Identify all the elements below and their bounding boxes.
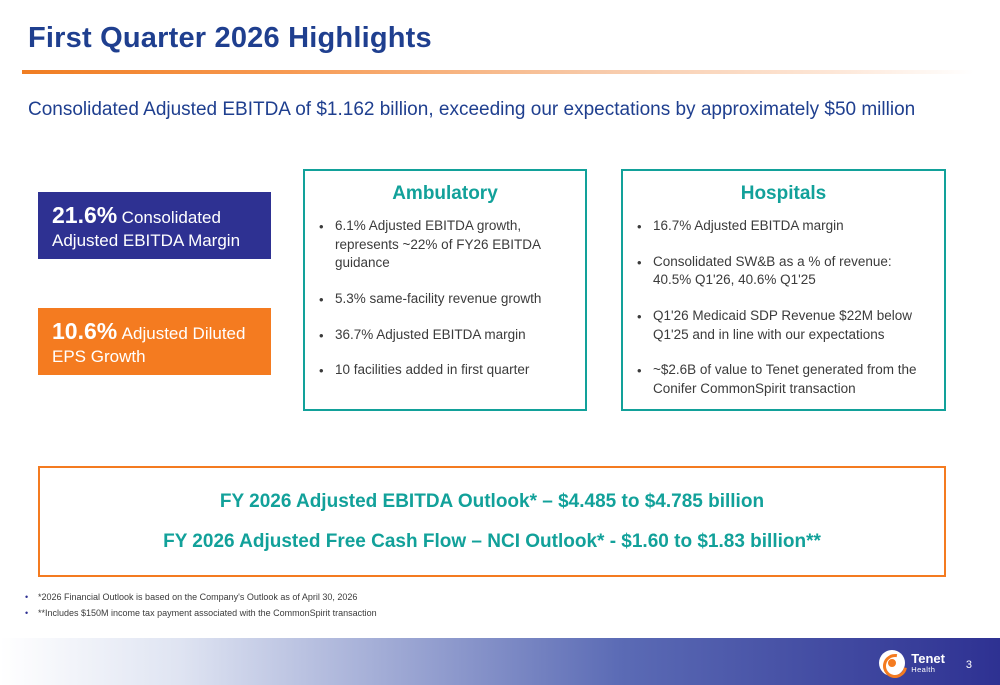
- panel-hospitals: Hospitals •16.7% Adjusted EBITDA margin …: [621, 169, 946, 411]
- list-item-text: Q1'26 Medicaid SDP Revenue $22M below Q1…: [653, 308, 912, 342]
- logo-text: Tenet Health: [911, 652, 945, 674]
- outlook-fcf-line: FY 2026 Adjusted Free Cash Flow – NCI Ou…: [163, 531, 821, 553]
- list-item-text: 16.7% Adjusted EBITDA margin: [653, 218, 844, 233]
- kpi-value: 10.6%: [52, 318, 117, 344]
- logo-name: Tenet: [911, 652, 945, 666]
- bullet-dot-icon: •: [637, 218, 642, 236]
- outlook-ebitda-line: FY 2026 Adjusted EBITDA Outlook* – $4.48…: [220, 491, 764, 513]
- list-item: •Consolidated SW&B as a % of revenue: 40…: [653, 253, 930, 290]
- bullet-dot-icon: •: [319, 218, 324, 236]
- list-item: •~$2.6B of value to Tenet generated from…: [653, 361, 930, 398]
- list-item: •5.3% same-facility revenue growth: [335, 290, 571, 309]
- logo-tagline: Health: [911, 666, 945, 674]
- slide-root: First Quarter 2026 Highlights Consolidat…: [0, 0, 1000, 685]
- subheadline: Consolidated Adjusted EBITDA of $1.162 b…: [28, 99, 915, 121]
- panel-title: Ambulatory: [305, 183, 585, 205]
- page-number: 3: [966, 659, 972, 671]
- kpi-label-line2: Adjusted EBITDA Margin: [52, 231, 257, 251]
- list-item-text: 6.1% Adjusted EBITDA growth, represents …: [335, 218, 540, 270]
- bullet-dot-icon: •: [637, 362, 642, 380]
- list-item: •10 facilities added in first quarter: [335, 361, 571, 380]
- kpi-card-consolidated-margin: 21.6% Consolidated Adjusted EBITDA Margi…: [38, 192, 271, 259]
- bullet-list: •6.1% Adjusted EBITDA growth, represents…: [305, 217, 585, 380]
- list-item-text: ~$2.6B of value to Tenet generated from …: [653, 362, 917, 396]
- kpi-label-line1: Adjusted Diluted: [122, 324, 246, 343]
- footnote-text: **Includes $150M income tax payment asso…: [38, 608, 377, 618]
- panel-ambulatory: Ambulatory •6.1% Adjusted EBITDA growth,…: [303, 169, 587, 411]
- outlook-box: FY 2026 Adjusted EBITDA Outlook* – $4.48…: [38, 466, 946, 577]
- bullet-dot-icon: •: [25, 592, 28, 602]
- list-item: •36.7% Adjusted EBITDA margin: [335, 326, 571, 345]
- footnotes: •*2026 Financial Outlook is based on the…: [22, 592, 722, 624]
- footnote-item: •*2026 Financial Outlook is based on the…: [22, 592, 722, 602]
- list-item-text: Consolidated SW&B as a % of revenue: 40.…: [653, 254, 892, 288]
- panel-title: Hospitals: [623, 183, 944, 205]
- bullet-list: •16.7% Adjusted EBITDA margin •Consolida…: [623, 217, 944, 398]
- footnote-text: *2026 Financial Outlook is based on the …: [38, 592, 357, 602]
- list-item-text: 5.3% same-facility revenue growth: [335, 291, 541, 306]
- footnote-item: •**Includes $150M income tax payment ass…: [22, 608, 722, 618]
- bullet-dot-icon: •: [319, 362, 324, 380]
- list-item: •Q1'26 Medicaid SDP Revenue $22M below Q…: [653, 307, 930, 344]
- tenet-swirl-icon: [879, 650, 905, 676]
- kpi-label-line2: EPS Growth: [52, 347, 257, 367]
- kpi-value: 21.6%: [52, 202, 117, 228]
- title-divider: [22, 70, 974, 74]
- list-item-text: 36.7% Adjusted EBITDA margin: [335, 327, 526, 342]
- list-item: •6.1% Adjusted EBITDA growth, represents…: [335, 217, 571, 273]
- list-item: •16.7% Adjusted EBITDA margin: [653, 217, 930, 236]
- page-title: First Quarter 2026 Highlights: [28, 22, 432, 55]
- bullet-dot-icon: •: [319, 291, 324, 309]
- bullet-dot-icon: •: [25, 608, 28, 618]
- bullet-dot-icon: •: [637, 308, 642, 326]
- kpi-card-eps-growth: 10.6% Adjusted Diluted EPS Growth: [38, 308, 271, 375]
- kpi-label-line1: Consolidated: [122, 208, 221, 227]
- brand-logo: Tenet Health: [879, 650, 945, 676]
- list-item-text: 10 facilities added in first quarter: [335, 362, 529, 377]
- footer-bar: Tenet Health 3: [0, 638, 1000, 685]
- bullet-dot-icon: •: [319, 327, 324, 345]
- bullet-dot-icon: •: [637, 254, 642, 272]
